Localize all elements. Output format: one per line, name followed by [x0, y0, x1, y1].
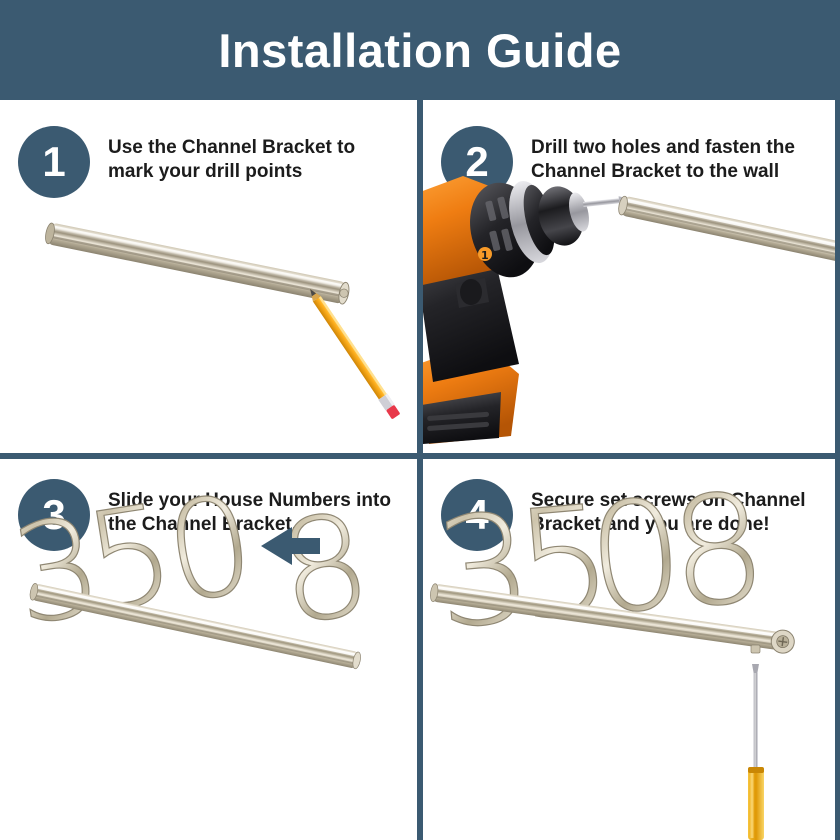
drill-illustration: 1 [423, 106, 835, 453]
assembled-numbers-illustration-4: 3 5 0 8 [423, 459, 835, 840]
channel-bracket-illustration-1 [0, 106, 417, 453]
house-numbers-svg-3: 3 5 0 8 [0, 459, 417, 840]
house-number-glyph-loose: 8 [268, 483, 381, 658]
svg-text:1: 1 [481, 249, 489, 262]
channel-bracket-svg [0, 106, 417, 453]
bracket-rail-2 [617, 195, 835, 276]
page-title: Installation Guide [218, 27, 621, 74]
drill-svg: 1 [423, 106, 835, 453]
step-panel-1: 1 Use the Channel Bracket to mark your d… [0, 106, 417, 453]
bracket-rail [44, 222, 351, 305]
house-number-8: 8 [268, 483, 381, 658]
set-screw-loose [751, 645, 760, 653]
drill-body: 1 [423, 175, 593, 444]
house-numbers-svg-4: 3 5 0 8 [423, 459, 835, 840]
header-bar: Installation Guide [0, 0, 840, 100]
panel-divider-vertical-top [417, 100, 423, 453]
step-panel-4: 4 Secure set screws on Channel Bracket a… [423, 459, 835, 840]
step-panel-3: 3 Slide your House Numbers into the Chan… [0, 459, 417, 840]
house-number-8: 8 [663, 461, 773, 643]
pencil-illustration [306, 286, 401, 420]
house-numbers-illustration-3: 3 5 0 8 [0, 459, 417, 840]
installation-guide-infographic: Installation Guide 1 Use the Channel Bra… [0, 0, 840, 840]
screwdriver-illustration [748, 664, 764, 840]
frame-edge-right [835, 100, 840, 840]
panel-divider-vertical-bottom [417, 459, 423, 840]
step-panel-2: 2 Drill two holes and fasten the Channel… [423, 106, 835, 453]
